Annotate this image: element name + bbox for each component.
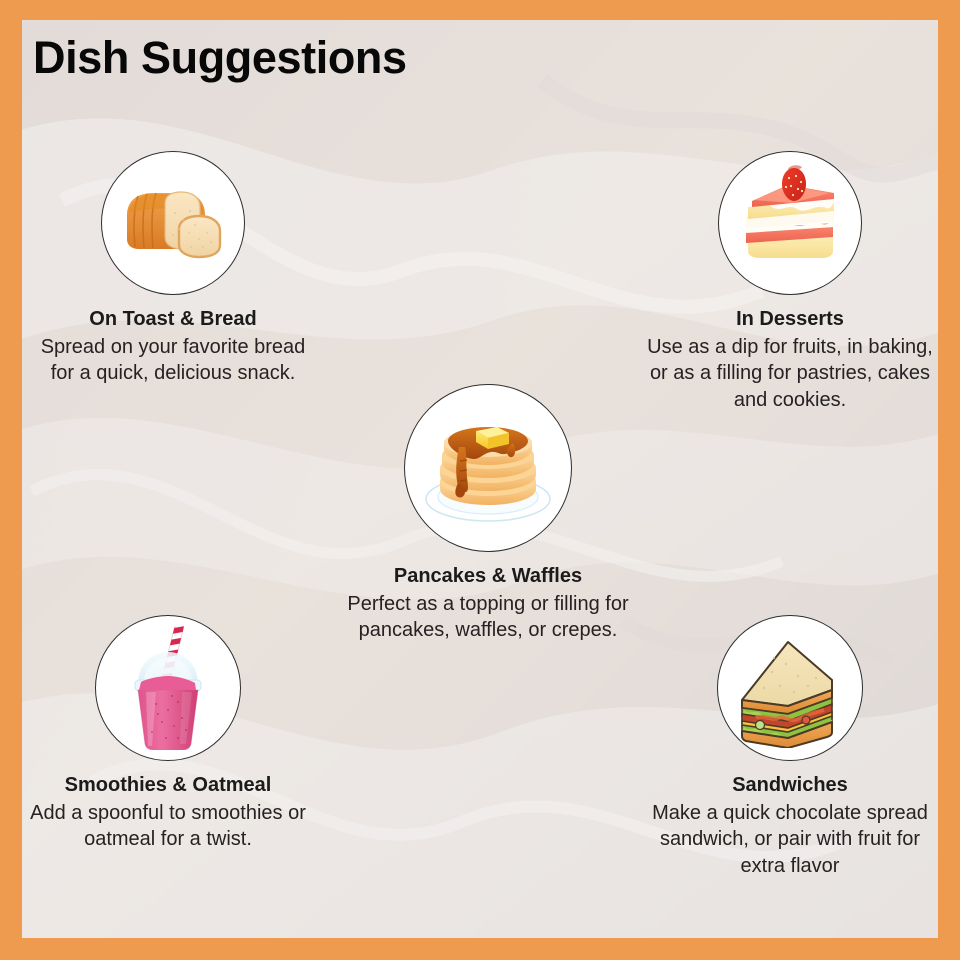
item-heading-toast: On Toast & Bread: [28, 307, 318, 332]
dish-suggestions-poster: Dish Suggestions: [0, 0, 960, 960]
item-description-dessert: Use as a dip for fruits, in baking, or a…: [642, 334, 938, 413]
suggestion-item-dessert: In Desserts Use as a dip for fruits, in …: [642, 151, 938, 413]
item-description-pancake: Perfect as a topping or filling for panc…: [333, 591, 643, 644]
icon-circle-dessert: [718, 151, 862, 295]
smoothie-cup-icon: [108, 626, 228, 750]
page-title: Dish Suggestions: [33, 32, 407, 84]
sliced-bread-loaf-icon: [113, 163, 233, 283]
suggestion-item-toast: On Toast & Bread Spread on your favorite…: [28, 151, 318, 387]
item-heading-smoothie: Smoothies & Oatmeal: [22, 773, 318, 798]
pancake-stack-icon: [417, 397, 559, 539]
item-description-toast: Spread on your favorite bread for a quic…: [28, 334, 318, 387]
suggestion-item-sandwich: Sandwiches Make a quick chocolate spread…: [640, 615, 938, 879]
item-description-smoothie: Add a spoonful to smoothies or oatmeal f…: [22, 800, 318, 853]
item-heading-pancake: Pancakes & Waffles: [333, 564, 643, 589]
suggestion-item-pancake: Pancakes & Waffles Perfect as a topping …: [333, 384, 643, 644]
icon-circle-pancake: [404, 384, 572, 552]
icon-circle-toast: [101, 151, 245, 295]
club-sandwich-icon: [728, 628, 852, 748]
item-description-sandwich: Make a quick chocolate spread sandwich, …: [640, 800, 938, 879]
icon-circle-smoothie: [95, 615, 241, 761]
suggestion-item-smoothie: Smoothies & Oatmeal Add a spoonful to sm…: [22, 615, 318, 853]
icon-circle-sandwich: [717, 615, 863, 761]
item-heading-dessert: In Desserts: [642, 307, 938, 332]
strawberry-cake-slice-icon: [730, 163, 850, 283]
poster-content: Dish Suggestions: [22, 20, 938, 938]
item-heading-sandwich: Sandwiches: [640, 773, 938, 798]
poster-canvas: Dish Suggestions: [22, 20, 938, 938]
